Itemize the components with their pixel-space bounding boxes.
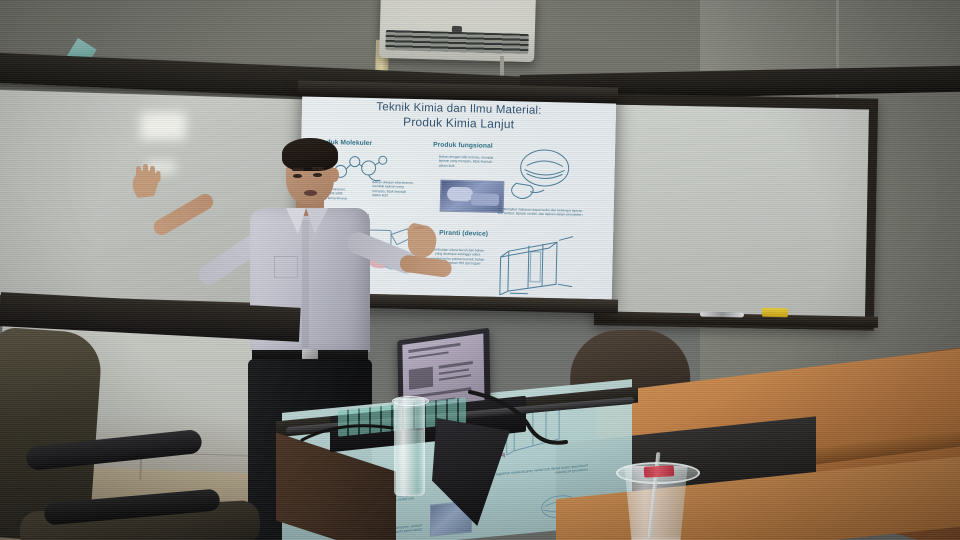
presenter-shirt-pocket bbox=[274, 256, 298, 278]
ac-louvers bbox=[385, 30, 529, 54]
device-box-diagram-icon bbox=[498, 233, 587, 297]
drinking-glass-rim bbox=[392, 396, 429, 406]
presenter-eye-left bbox=[293, 174, 302, 178]
slide-title-line1: Teknik Kimia dan Ilmu Material: bbox=[376, 101, 542, 117]
presenter-brow-left bbox=[292, 168, 304, 171]
layered-food-diagram-icon bbox=[506, 147, 573, 204]
drinking-glass-icon[interactable] bbox=[394, 398, 425, 496]
presenter-ear bbox=[330, 168, 339, 182]
presenter-right-hand bbox=[404, 220, 440, 260]
slide-heading-fungsional: Produk fungsional bbox=[433, 141, 493, 149]
lecture-room-photo: Teknik Kimia dan Ilmu Material: Produk K… bbox=[0, 0, 960, 540]
whiteboard-right bbox=[594, 93, 878, 330]
whiteboard-marker-icon[interactable] bbox=[700, 312, 744, 318]
presenter-eye-right bbox=[313, 173, 322, 177]
presenter bbox=[178, 128, 408, 428]
presenter-left-hand bbox=[128, 164, 162, 200]
cup-brand-logo bbox=[644, 465, 675, 478]
presenter-mouth bbox=[304, 190, 317, 196]
presenter-hair bbox=[282, 138, 338, 171]
slide-heading-piranti: Piranti (device) bbox=[439, 230, 488, 238]
presenter-brow-right bbox=[312, 167, 324, 170]
functional-product-photo bbox=[440, 180, 505, 213]
slide-body-fungsional: Bahan dengan sifat tertentu, memiliki la… bbox=[439, 155, 499, 170]
air-conditioner-icon bbox=[379, 0, 536, 62]
whiteboard-eraser-icon[interactable] bbox=[762, 308, 788, 317]
presenter-shirt-placket bbox=[302, 220, 309, 348]
